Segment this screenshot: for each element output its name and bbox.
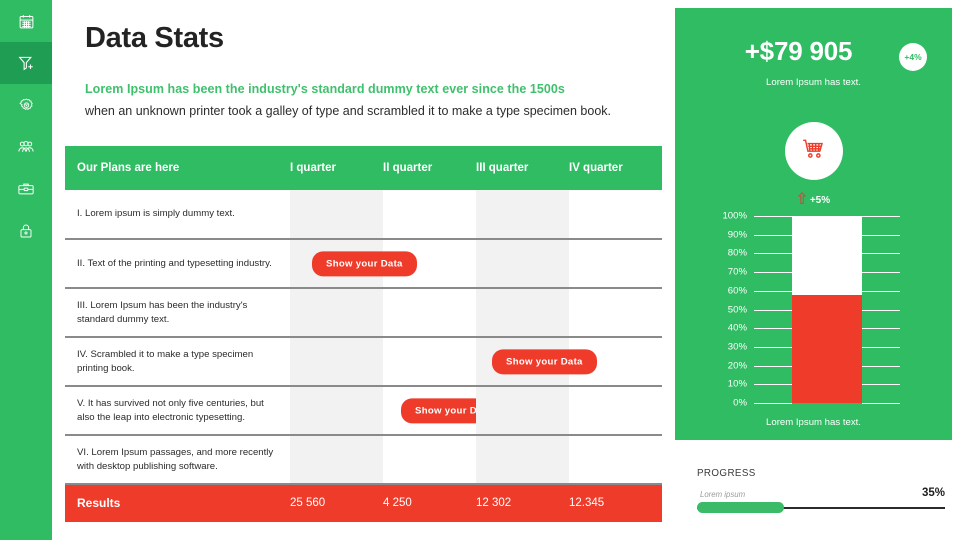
- sidebar-item-settings[interactable]: [0, 84, 52, 126]
- row-label: III. Lorem Ipsum has been the industry's…: [65, 288, 290, 337]
- gridline-right: [862, 272, 900, 273]
- gridline-left: [754, 328, 792, 329]
- progress-row: Lorem ipsum 35%: [697, 493, 945, 515]
- table-head: Our Plans are here I quarter II quarter …: [65, 146, 662, 190]
- table-header-row: Our Plans are here I quarter II quarter …: [65, 146, 662, 190]
- table-row: IV. Scrambled it to make a type specimen…: [65, 337, 662, 386]
- tick-label: 70%: [687, 267, 747, 278]
- sidebar-item-users[interactable]: [0, 126, 52, 168]
- cell-q4: [569, 239, 662, 288]
- delta-value: +5%: [810, 195, 830, 206]
- results-q1: 25 560: [290, 484, 383, 522]
- gridline-right: [862, 366, 900, 367]
- progress-title: PROGRESS: [697, 468, 945, 479]
- gridline-left: [754, 347, 792, 348]
- gridline-right: [862, 216, 900, 217]
- table-row: V. It has survived not only five centuri…: [65, 386, 662, 435]
- gridline-left: [754, 216, 792, 217]
- cell-q3: [476, 288, 569, 337]
- results-q4: 12.345: [569, 484, 662, 522]
- cell-q3: Show your Data: [476, 337, 569, 386]
- tick-label: 60%: [687, 285, 747, 296]
- cell-q2: [383, 288, 476, 337]
- col-header-q2: II quarter: [383, 146, 476, 190]
- gridline-left: [754, 310, 792, 311]
- table-results-row: Results 25 560 4 250 12 302 12.345: [65, 484, 662, 522]
- col-header-q1: I quarter: [290, 146, 383, 190]
- table-row: I. Lorem ipsum is simply dummy text.: [65, 190, 662, 239]
- gridline-right: [862, 347, 900, 348]
- cell-q3: [476, 386, 569, 435]
- gridline-right: [862, 291, 900, 292]
- cell-q4: [569, 337, 662, 386]
- plans-table: Our Plans are here I quarter II quarter …: [65, 146, 662, 522]
- sidebar-item-calendar[interactable]: [0, 0, 52, 42]
- cell-q1: [290, 288, 383, 337]
- cell-q1: [290, 337, 383, 386]
- progress-caption: Lorem ipsum: [700, 490, 745, 499]
- cell-q2: [383, 190, 476, 239]
- tick-label: 40%: [687, 323, 747, 334]
- page-title: Data Stats: [85, 22, 224, 55]
- tick-label: 100%: [687, 211, 747, 222]
- gridline-right: [862, 328, 900, 329]
- calendar-icon: [18, 13, 35, 30]
- row-label: I. Lorem ipsum is simply dummy text.: [65, 190, 290, 239]
- vertical-bar-chart: 100% 90% 80% 70% 60%: [675, 208, 952, 413]
- results-q3: 12 302: [476, 484, 569, 522]
- cart-button[interactable]: [785, 122, 843, 180]
- users-icon: [17, 138, 35, 156]
- shopping-cart-icon: [801, 136, 827, 167]
- subtitle-highlight: Lorem Ipsum has been the industry's stan…: [85, 82, 565, 96]
- main-content: Data Stats Lorem Ipsum has been the indu…: [52, 0, 675, 540]
- cell-q3: [476, 190, 569, 239]
- cell-q3: [476, 435, 569, 484]
- tick-label: 0%: [687, 398, 747, 409]
- tick-label: 80%: [687, 248, 747, 259]
- col-header-q3: III quarter: [476, 146, 569, 190]
- stats-panel: +$79 905 +4% Lorem Ipsum has text.: [675, 8, 952, 440]
- cell-q2: [383, 435, 476, 484]
- gridline-right: [862, 253, 900, 254]
- status-badge: +4%: [899, 43, 927, 71]
- gridline-right: [862, 310, 900, 311]
- row-label: VI. Lorem Ipsum passages, and more recen…: [65, 435, 290, 484]
- panel-caption-top: Lorem Ipsum has text.: [675, 77, 952, 88]
- gridline-right: [862, 403, 900, 404]
- col-header-plans: Our Plans are here: [65, 146, 290, 190]
- gridline-left: [754, 291, 792, 292]
- col-header-q4: IV quarter: [569, 146, 662, 190]
- cell-q4: [569, 190, 662, 239]
- gear-icon: [18, 97, 35, 114]
- row-label: V. It has survived not only five centuri…: [65, 386, 290, 435]
- tick-label: 20%: [687, 360, 747, 371]
- table-body: I. Lorem ipsum is simply dummy text. II.…: [65, 190, 662, 522]
- cell-q2: Show your Data: [383, 386, 476, 435]
- table-row: VI. Lorem Ipsum passages, and more recen…: [65, 435, 662, 484]
- gridline-left: [754, 272, 792, 273]
- row-label: IV. Scrambled it to make a type specimen…: [65, 337, 290, 386]
- lock-icon: [18, 223, 34, 239]
- plans-table-wrapper: Our Plans are here I quarter II quarter …: [65, 146, 662, 522]
- row-label: II. Text of the printing and typesetting…: [65, 239, 290, 288]
- tick-label: 50%: [687, 304, 747, 315]
- gridline-left: [754, 235, 792, 236]
- sidebar-item-briefcase[interactable]: [0, 168, 52, 210]
- cell-q4: [569, 288, 662, 337]
- cell-q2: [383, 239, 476, 288]
- briefcase-icon: [17, 180, 35, 198]
- cell-q1: [290, 386, 383, 435]
- slide-root: Data Stats Lorem Ipsum has been the indu…: [0, 0, 960, 540]
- progress-fill[interactable]: [697, 502, 784, 513]
- delta-indicator: +5%: [675, 191, 952, 208]
- progress-percent: 35%: [922, 487, 945, 499]
- cell-q1: [290, 435, 383, 484]
- gridline-left: [754, 253, 792, 254]
- table-row: III. Lorem Ipsum has been the industry's…: [65, 288, 662, 337]
- cell-q4: [569, 386, 662, 435]
- gridline-left: [754, 366, 792, 367]
- sidebar-item-filter[interactable]: [0, 42, 52, 84]
- gridline-right: [862, 235, 900, 236]
- bar-track: [792, 216, 862, 403]
- cell-q1: Show your Data: [290, 239, 383, 288]
- bar-fill: [792, 295, 862, 403]
- sidebar-item-security[interactable]: [0, 210, 52, 252]
- cell-q3: [476, 239, 569, 288]
- progress-block: PROGRESS Lorem ipsum 35%: [697, 468, 945, 515]
- table-row: II. Text of the printing and typesetting…: [65, 239, 662, 288]
- gridline-right: [862, 384, 900, 385]
- panel-caption-bottom: Lorem Ipsum has text.: [675, 417, 952, 428]
- filter-add-icon: [17, 54, 35, 72]
- cell-q4: [569, 435, 662, 484]
- results-q2: 4 250: [383, 484, 476, 522]
- cell-q2: [383, 337, 476, 386]
- subtitle-secondary: when an unknown printer took a galley of…: [85, 104, 611, 118]
- tick-label: 10%: [687, 379, 747, 390]
- arrow-up-icon: [797, 191, 807, 208]
- sidebar: [0, 0, 52, 540]
- tick-label: 30%: [687, 341, 747, 352]
- gridline-left: [754, 384, 792, 385]
- tick-label: 90%: [687, 229, 747, 240]
- results-label: Results: [65, 484, 290, 522]
- cell-q1: [290, 190, 383, 239]
- gridline-left: [754, 403, 792, 404]
